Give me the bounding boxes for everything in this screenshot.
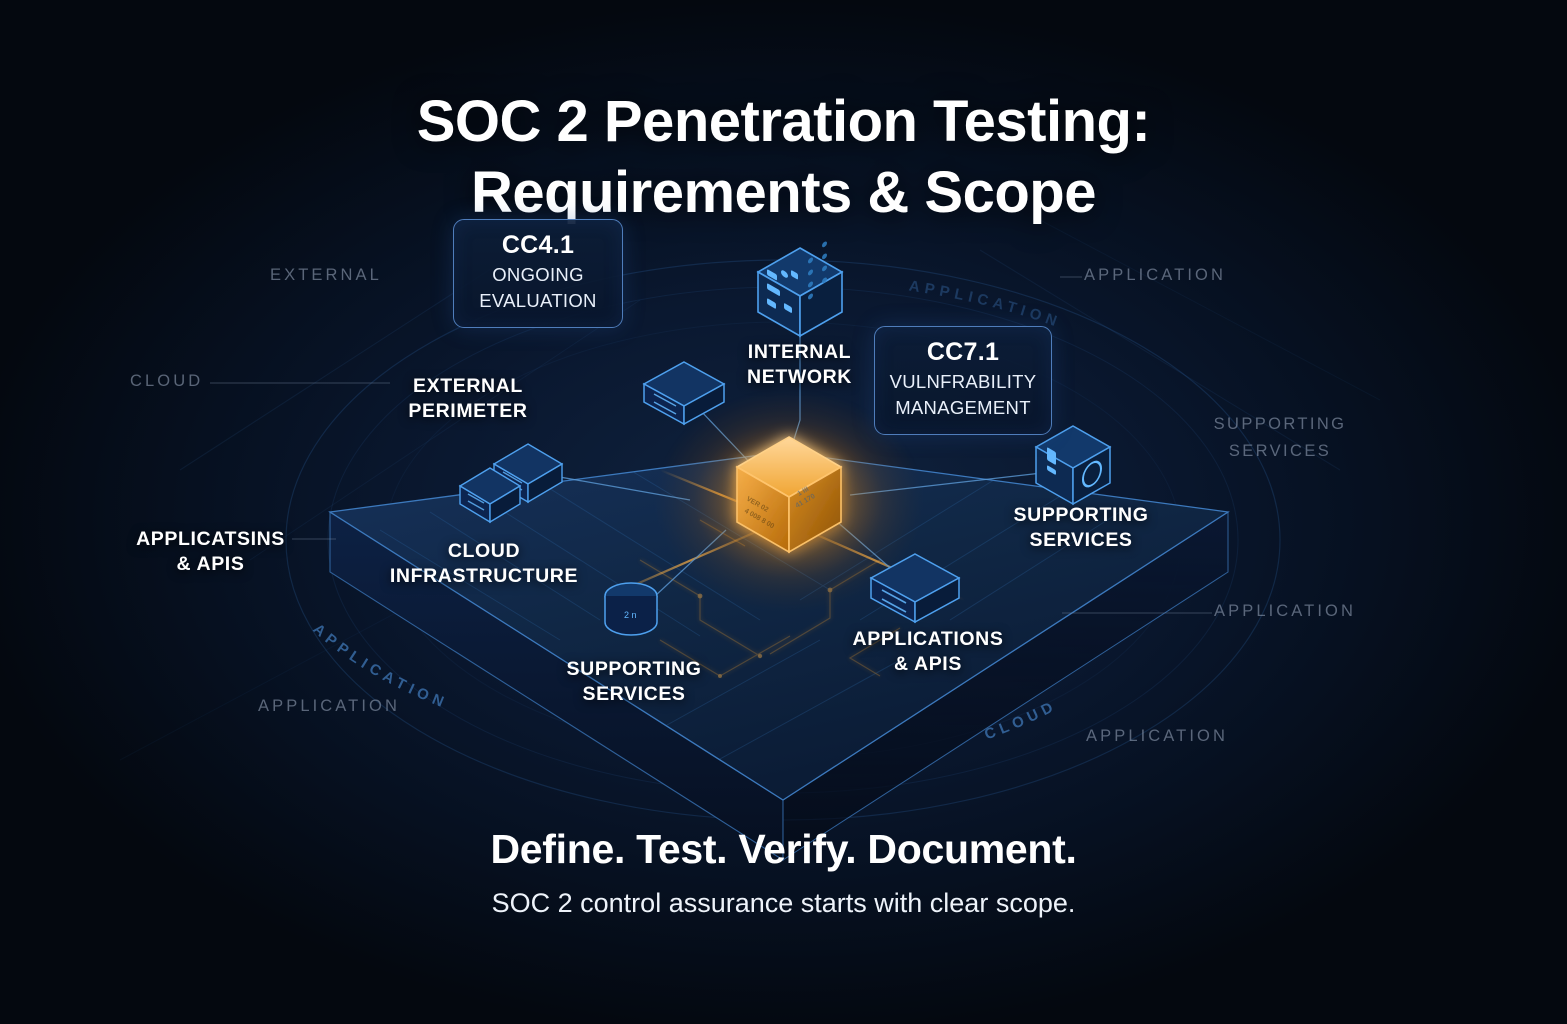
arc-text-top-right: APPLICATION [908, 278, 1064, 332]
callout-cc41-line1: ONGOING [468, 264, 608, 287]
node-label-supporting-services-bottom: SUPPORTING SERVICES [548, 657, 720, 707]
node-label-external-perimeter-line1: EXTERNAL [383, 374, 553, 399]
svg-text:2 n: 2 n [624, 610, 637, 620]
node-label-internal-network-line1: INTERNAL [722, 340, 877, 365]
node-label-cloud-infrastructure-line1: CLOUD [375, 539, 593, 564]
ambient-label-supporting-services-line1: SUPPORTING [1200, 415, 1360, 434]
callout-card-cc41[interactable]: CC4.1 ONGOING EVALUATION [453, 219, 623, 328]
callout-card-cc71[interactable]: CC7.1 VULNFRABILITY MANAGEMENT [874, 326, 1052, 435]
title-line-2: Requirements & Scope [0, 158, 1567, 229]
callout-cc41-code: CC4.1 [468, 232, 608, 260]
node-label-applications-apis-line1: APPLICATIONS [838, 627, 1018, 652]
node-label-supporting-services-bottom-line1: SUPPORTING [548, 657, 720, 682]
node-label-external-perimeter-line2: PERIMETER [383, 399, 553, 424]
node-label-supporting-services-right: SUPPORTING SERVICES [991, 503, 1171, 553]
ambient-label-application-bottom-left: APPLICATION [258, 697, 400, 716]
node-icon-supporting-services-db: 2 n [605, 583, 657, 635]
node-label-internal-network: INTERNAL NETWORK [722, 340, 877, 390]
node-label-cloud-infrastructure: CLOUD INFRASTRUCTURE [375, 539, 593, 589]
side-label-applications-line2: & APIS [128, 552, 293, 577]
ambient-label-application-top-right: APPLICATION [1084, 266, 1226, 285]
callout-cc41-line2: EVALUATION [468, 290, 608, 313]
callout-cc71-code: CC7.1 [889, 339, 1037, 367]
node-label-supporting-services-bottom-line2: SERVICES [548, 682, 720, 707]
ambient-label-external: EXTERNAL [270, 266, 382, 285]
node-label-supporting-services-right-line1: SUPPORTING [991, 503, 1171, 528]
callout-cc71-line1: VULNFRABILITY [889, 371, 1037, 394]
node-label-applications-apis: APPLICATIONS & APIS [838, 627, 1018, 677]
callout-cc71-line2: MANAGEMENT [889, 397, 1037, 420]
node-label-applications-apis-line2: & APIS [838, 652, 1018, 677]
footer-subkicker: SOC 2 control assurance starts with clea… [0, 888, 1567, 919]
ambient-label-application-bottom-right: APPLICATION [1086, 727, 1228, 746]
title-line-1: SOC 2 Penetration Testing: [0, 87, 1567, 158]
node-label-internal-network-line2: NETWORK [722, 365, 877, 390]
ambient-label-supporting-services-line2: SERVICES [1200, 442, 1360, 461]
page-title: SOC 2 Penetration Testing: Requirements … [0, 87, 1567, 229]
ambient-label-cloud: CLOUD [130, 372, 203, 391]
ambient-label-application-mid-right: APPLICATION [1214, 602, 1356, 621]
node-label-supporting-services-right-line2: SERVICES [991, 528, 1171, 553]
infographic-canvas: VER 02 4 008 8 00 1 III 41 170 [0, 0, 1567, 1024]
side-label-applications-apis: APPLICATSINS & APIS [128, 527, 293, 578]
footer-kicker: Define. Test. Verify. Document. [0, 826, 1567, 873]
side-label-applications-line1: APPLICATSINS [128, 527, 293, 552]
node-label-cloud-infrastructure-line2: INFRASTRUCTURE [375, 564, 593, 589]
node-label-external-perimeter: EXTERNAL PERIMETER [383, 374, 553, 424]
